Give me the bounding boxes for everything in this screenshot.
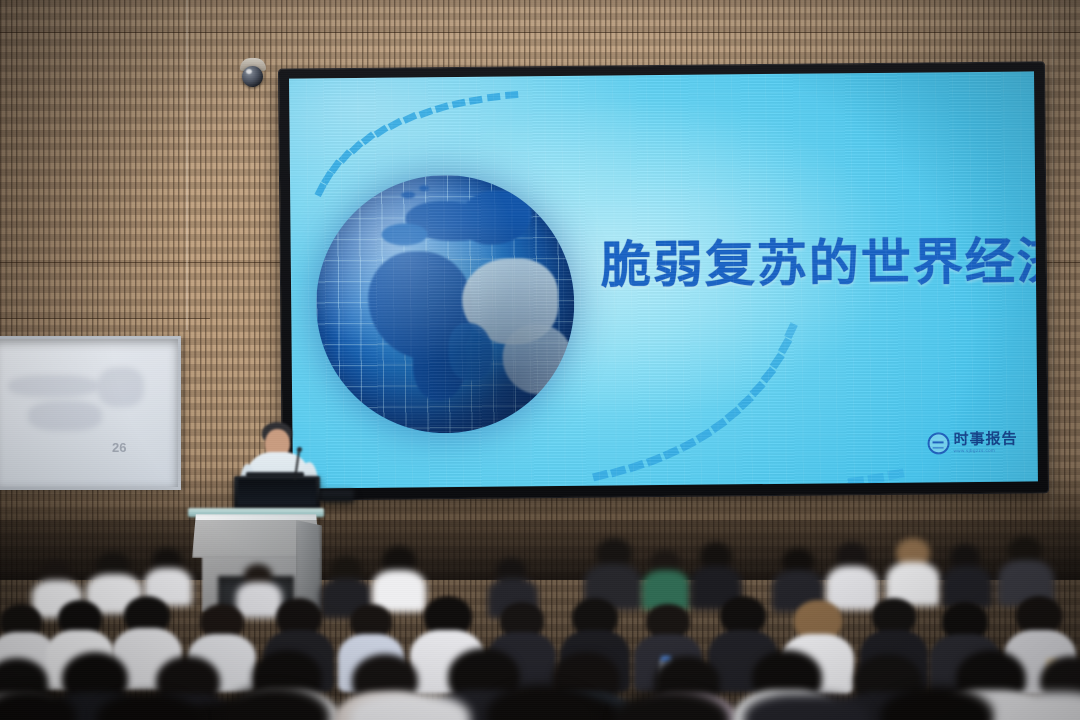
slide-scanlines xyxy=(289,71,1038,488)
microphone-head xyxy=(297,447,302,452)
whiteboard-smudge xyxy=(98,367,144,407)
lectern-monitor[interactable] xyxy=(234,476,320,510)
whiteboard-smudge xyxy=(28,401,102,431)
presentation-screen[interactable]: 脆弱复苏的世界经济 时事报告 www.sjbgzzs.com xyxy=(279,62,1048,499)
lecture-hall-photo: 26 xyxy=(0,0,1080,720)
camera-glint xyxy=(246,69,252,74)
slide-canvas: 脆弱复苏的世界经济 时事报告 www.sjbgzzs.com xyxy=(289,71,1038,488)
secondary-device[interactable] xyxy=(320,490,354,502)
whiteboard: 26 xyxy=(0,336,181,490)
monitor-screen xyxy=(238,479,316,505)
camera-icon xyxy=(242,66,263,87)
audience xyxy=(0,520,1080,720)
whiteboard-note: 26 xyxy=(112,441,126,455)
whiteboard-smudge xyxy=(8,375,98,397)
